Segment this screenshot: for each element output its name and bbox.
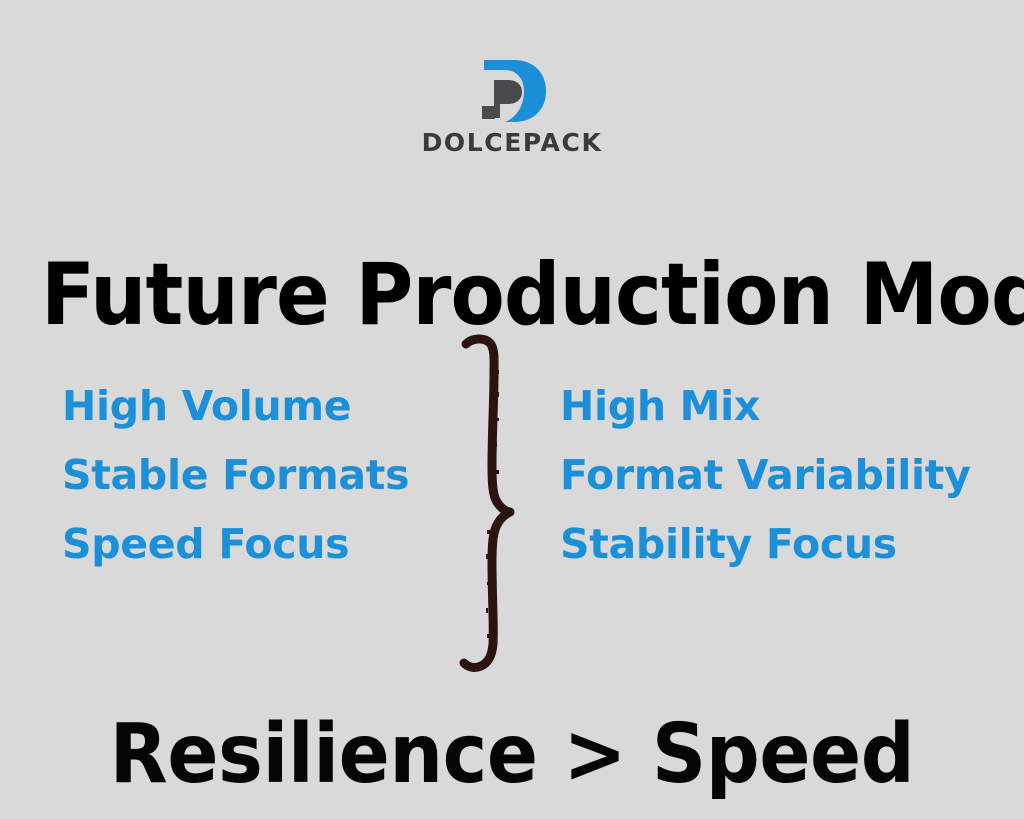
comparison-column-right: High Mix Format Variability Stability Fo… (560, 372, 1020, 579)
list-item: Stability Focus (560, 510, 1020, 579)
list-item: High Volume (62, 372, 462, 441)
list-item: Speed Focus (62, 510, 462, 579)
list-item: High Mix (560, 372, 1020, 441)
brand-block: DOLCEPACK (0, 58, 1024, 155)
comparison-column-left: High Volume Stable Formats Speed Focus (62, 372, 462, 579)
dolcepack-logo-icon (472, 58, 552, 124)
curly-brace-icon (452, 330, 532, 680)
page-title: Future Production Model (41, 252, 983, 338)
list-item: Stable Formats (62, 441, 462, 510)
brand-wordmark: DOLCEPACK (422, 130, 603, 155)
slide-canvas: DOLCEPACK Future Production Model High V… (0, 0, 1024, 819)
closing-statement: Resilience > Speed (41, 714, 983, 796)
list-item: Format Variability (560, 441, 1020, 510)
